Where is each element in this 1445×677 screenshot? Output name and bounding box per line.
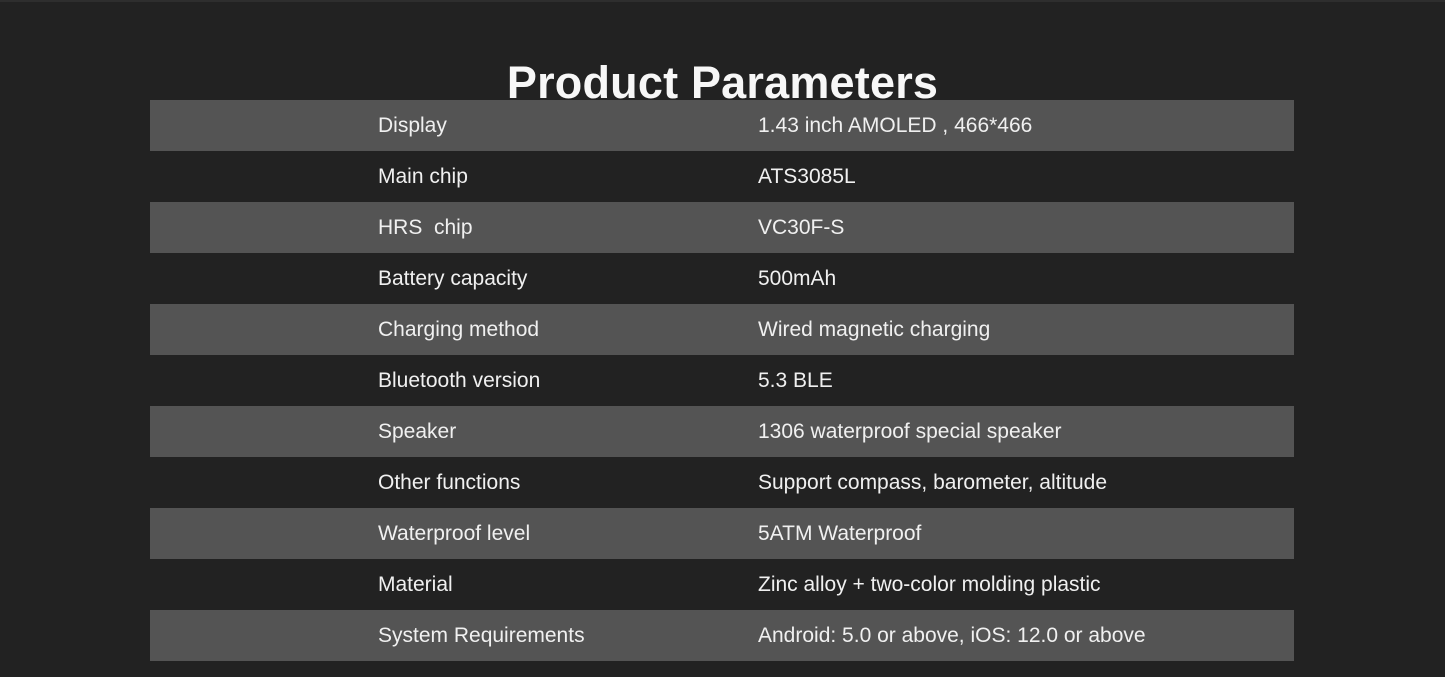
spec-label: Other functions	[150, 470, 606, 496]
spec-value: Wired magnetic charging	[606, 317, 1294, 343]
spec-value: ATS3085L	[606, 164, 1294, 190]
spec-value: Android: 5.0 or above, iOS: 12.0 or abov…	[606, 623, 1294, 649]
table-row: Waterproof level5ATM Waterproof	[150, 508, 1294, 559]
spec-label: Display	[150, 113, 606, 139]
spec-label: Speaker	[150, 419, 606, 445]
spec-label: Waterproof level	[150, 521, 606, 547]
table-row: Main chipATS3085L	[150, 151, 1294, 202]
table-row: Other functionsSupport compass, baromete…	[150, 457, 1294, 508]
table-row: HRS chipVC30F-S	[150, 202, 1294, 253]
table-row: MaterialZinc alloy + two-color molding p…	[150, 559, 1294, 610]
spec-label: Bluetooth version	[150, 368, 606, 394]
product-parameters-page: Product Parameters Display1.43 inch AMOL…	[0, 0, 1445, 677]
spec-value: VC30F-S	[606, 215, 1294, 241]
table-row: Speaker1306 waterproof special speaker	[150, 406, 1294, 457]
spec-label: HRS chip	[150, 215, 606, 241]
table-row: System RequirementsAndroid: 5.0 or above…	[150, 610, 1294, 661]
spec-value: 5.3 BLE	[606, 368, 1294, 394]
table-row: Display1.43 inch AMOLED , 466*466	[150, 100, 1294, 151]
spec-value: 500mAh	[606, 266, 1294, 292]
table-row: Bluetooth version5.3 BLE	[150, 355, 1294, 406]
spec-label: Material	[150, 572, 606, 598]
table-row: Charging methodWired magnetic charging	[150, 304, 1294, 355]
spec-value: 1.43 inch AMOLED , 466*466	[606, 113, 1294, 139]
top-divider	[0, 0, 1445, 2]
spec-value: Support compass, barometer, altitude	[606, 470, 1294, 496]
table-row: Battery capacity500mAh	[150, 253, 1294, 304]
spec-label: Battery capacity	[150, 266, 606, 292]
spec-label: Main chip	[150, 164, 606, 190]
specifications-table: Display1.43 inch AMOLED , 466*466Main ch…	[150, 100, 1294, 661]
spec-label: System Requirements	[150, 623, 606, 649]
spec-label: Charging method	[150, 317, 606, 343]
spec-value: 5ATM Waterproof	[606, 521, 1294, 547]
spec-value: Zinc alloy + two-color molding plastic	[606, 572, 1294, 598]
spec-value: 1306 waterproof special speaker	[606, 419, 1294, 445]
